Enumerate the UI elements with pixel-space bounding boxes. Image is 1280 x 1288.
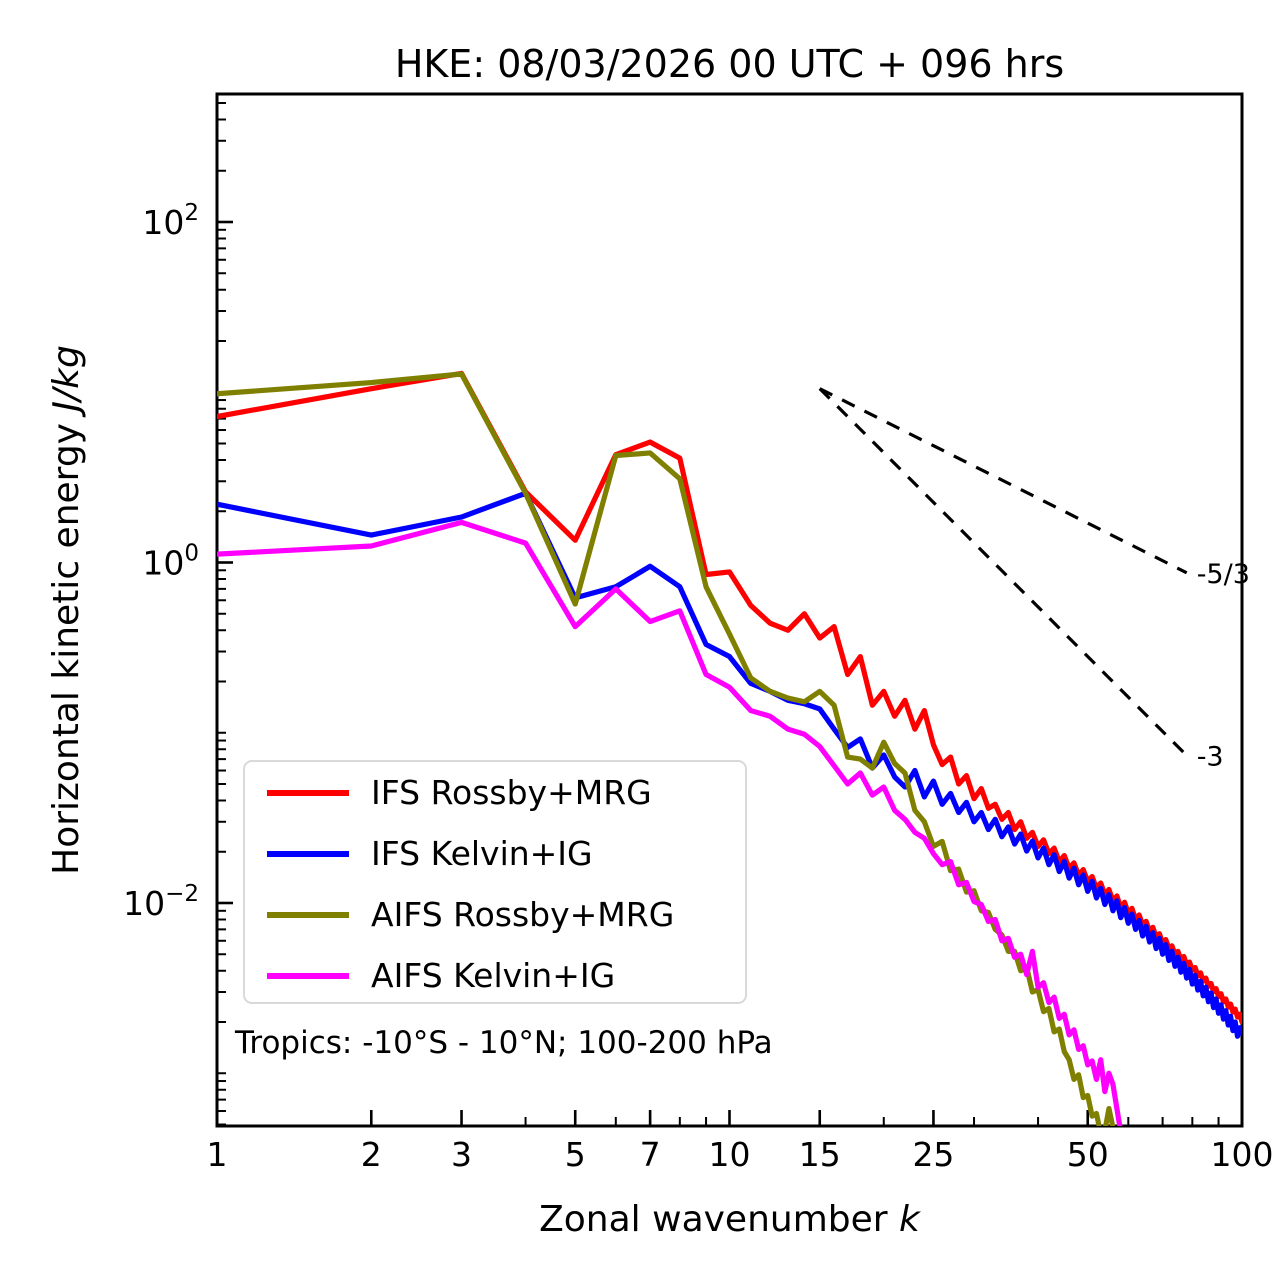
legend-swatch-icon xyxy=(267,851,349,857)
x-tick-label: 25 xyxy=(912,1135,954,1174)
x-tick-label: 50 xyxy=(1067,1135,1109,1174)
x-tick-label: 5 xyxy=(565,1135,586,1174)
x-tick-label: 3 xyxy=(451,1135,472,1174)
x-axis-label: Zonal wavenumber k xyxy=(539,1199,922,1240)
legend-item[interactable]: IFS Kelvin+IG xyxy=(245,823,745,884)
legend-swatch-icon xyxy=(267,790,349,796)
y-axis-label: Horizontal kinetic energy J/kg xyxy=(46,345,87,875)
legend-label: IFS Kelvin+IG xyxy=(371,834,593,873)
x-tick-label: 15 xyxy=(799,1135,841,1174)
y-tick-label: 10−2 xyxy=(123,881,199,923)
x-tick-label: 2 xyxy=(361,1135,382,1174)
reference-slope-line xyxy=(820,389,1187,573)
x-tick-label: 10 xyxy=(709,1135,751,1174)
legend-item[interactable]: IFS Rossby+MRG xyxy=(245,762,745,823)
legend: IFS Rossby+MRGIFS Kelvin+IGAIFS Rossby+M… xyxy=(243,760,747,1004)
plot-svg: 123571015255010010210010−2Zonal wavenumb… xyxy=(0,0,1280,1288)
legend-label: IFS Rossby+MRG xyxy=(371,773,652,812)
y-tick-label: 102 xyxy=(142,200,199,242)
axis-labels-group: 123571015255010010210010−2Zonal wavenumb… xyxy=(46,200,1274,1240)
legend-item[interactable]: AIFS Kelvin+IG xyxy=(245,945,745,1006)
x-tick-label: 1 xyxy=(207,1135,228,1174)
y-tick-label: 100 xyxy=(142,541,199,583)
legend-swatch-icon xyxy=(267,912,349,918)
reference-slope-label: -3 xyxy=(1197,742,1224,773)
x-tick-label: 100 xyxy=(1211,1135,1274,1174)
legend-label: AIFS Rossby+MRG xyxy=(371,895,674,934)
legend-label: AIFS Kelvin+IG xyxy=(371,956,615,995)
legend-item[interactable]: AIFS Rossby+MRG xyxy=(245,884,745,945)
region-annotation: Tropics: -10°S - 10°N; 100-200 hPa xyxy=(234,1025,773,1061)
figure-canvas: HKE: 08/03/2026 00 UTC + 096 hrs 1235710… xyxy=(0,0,1280,1288)
reference-slope-label: -5/3 xyxy=(1197,559,1250,590)
x-tick-label: 7 xyxy=(640,1135,661,1174)
legend-swatch-icon xyxy=(267,973,349,979)
